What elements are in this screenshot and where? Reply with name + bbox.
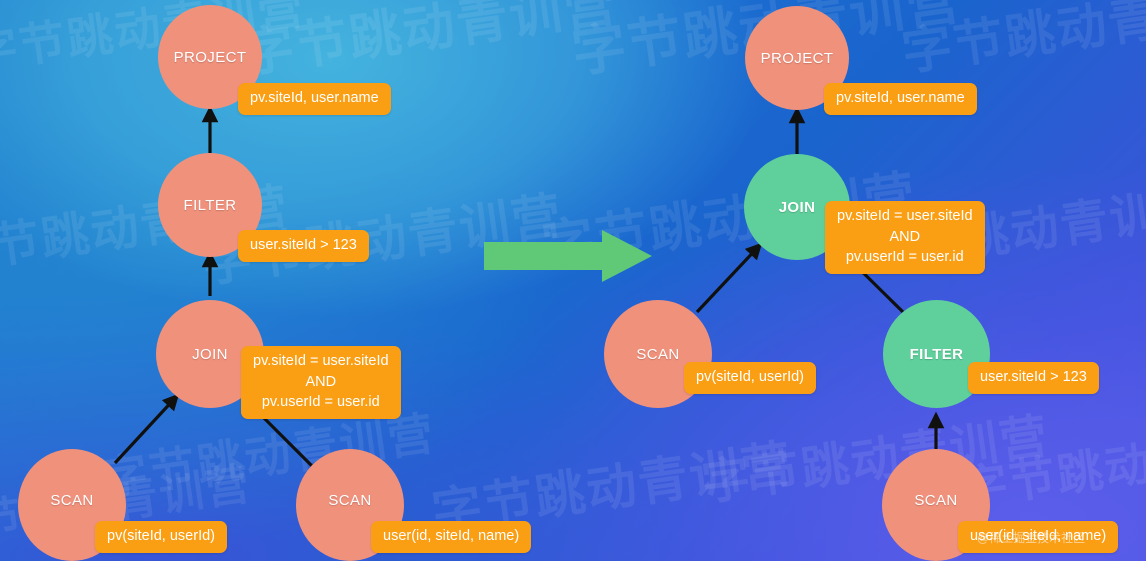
tag-project-right: pv.siteId, user.name [824,83,977,115]
watermark-text: 字节跳动青训营 [897,0,1146,85]
node-label: SCAN [914,492,957,509]
node-label: JOIN [779,199,816,216]
node-label: PROJECT [761,50,834,67]
tag-scan-pv-left: pv(siteId, userId) [95,521,227,553]
tag-scan-user-right: user(id, siteId, name) [958,521,1118,553]
node-label: JOIN [192,346,228,363]
optimization-arrow [484,230,652,282]
tag-filter-right: user.siteId > 123 [968,362,1099,394]
tag-filter-left: user.siteId > 123 [238,230,369,262]
node-label: PROJECT [174,49,247,66]
tag-scan-pv-right: pv(siteId, userId) [684,362,816,394]
tag-join-right: pv.siteId = user.siteId AND pv.userId = … [825,201,985,274]
node-label: FILTER [184,197,237,214]
node-label: SCAN [328,492,371,509]
node-label: FILTER [910,346,964,363]
watermark-text: 字节跳动青训营 [0,0,309,83]
node-label: SCAN [50,492,93,509]
tag-join-left: pv.siteId = user.siteId AND pv.userId = … [241,346,401,419]
tag-scan-user-left: user(id, siteId, name) [371,521,531,553]
tag-project-left: pv.siteId, user.name [238,83,391,115]
watermark-text: 字节跳动青训营 [237,0,622,87]
node-label: SCAN [636,346,679,363]
diagram-canvas: 字节跳动青训营 字节跳动青训营 字节跳动青训营 字节跳动青训营 字节跳动青训营 … [0,0,1146,561]
watermark-text: 字节跳动青训营 [697,396,1053,514]
